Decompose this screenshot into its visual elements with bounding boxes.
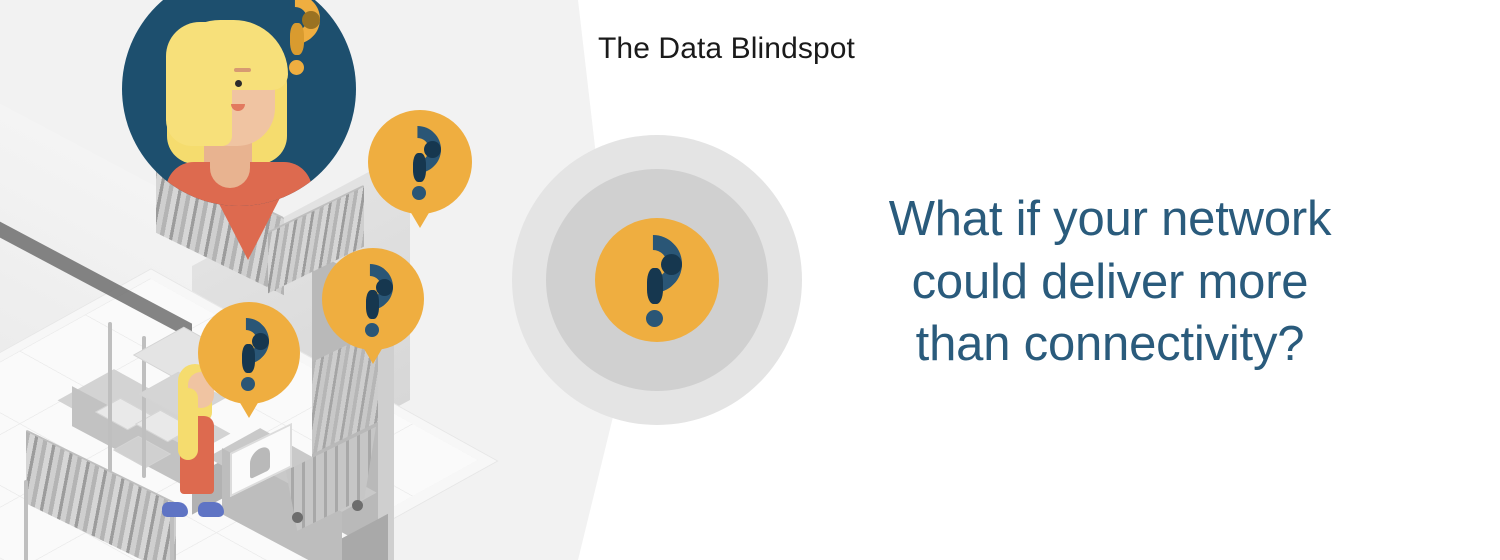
question-mark-stem <box>413 153 426 182</box>
question-mark-pin-icon <box>198 302 300 404</box>
question-mark-stem <box>290 23 304 55</box>
shopper-hair-front <box>178 388 198 460</box>
question-mark-icon <box>394 126 448 200</box>
kicker-title: The Data Blindspot <box>598 26 898 72</box>
cart-wheel-right <box>352 500 363 511</box>
question-mark-dot <box>241 377 255 391</box>
rack-post-left <box>24 480 28 560</box>
slide-canvas: The Data Blindspot What if your network … <box>0 0 1500 560</box>
question-mark-knob <box>252 333 269 350</box>
question-mark-knob <box>302 11 320 29</box>
portrait-disc <box>122 0 356 206</box>
question-mark-dot <box>365 323 379 337</box>
question-mark-icon <box>347 264 401 337</box>
headline-line-1: What if your network <box>800 188 1420 251</box>
headline-line-3: than connectivity? <box>800 313 1420 376</box>
shopper-portrait-bubble <box>122 0 356 206</box>
question-mark-dot <box>289 60 304 75</box>
portrait-hair-front <box>166 22 232 146</box>
question-mark-knob <box>424 141 441 158</box>
portrait-eyebrow <box>234 68 251 72</box>
headline: What if your network could deliver more … <box>800 188 1420 376</box>
signage-post <box>108 322 112 472</box>
question-mark-stem <box>647 268 663 304</box>
question-mark-dot <box>646 310 663 327</box>
portrait-eye <box>235 80 242 87</box>
question-mark-stem <box>366 290 379 319</box>
shopping-cart <box>280 450 376 516</box>
question-mark-icon <box>624 235 690 327</box>
question-mark-pin-icon <box>322 248 424 350</box>
question-mark-icon <box>270 0 328 76</box>
shopper-shoe-right <box>198 502 224 517</box>
question-mark-dot <box>412 186 426 200</box>
question-mark-knob <box>661 254 682 275</box>
question-mark-icon <box>223 318 277 391</box>
headline-line-2: could deliver more <box>800 251 1420 314</box>
kicker-line-2: Blindspot <box>731 32 855 65</box>
center-badge-circle <box>595 218 719 342</box>
question-mark-stem <box>242 344 255 373</box>
question-mark-badge <box>512 135 802 425</box>
kicker-line-1: The Data <box>598 32 722 65</box>
question-mark-pin-icon <box>368 110 472 214</box>
question-mark-knob <box>376 279 393 296</box>
shopper-shoe-left <box>162 502 188 517</box>
cart-wheel-left <box>292 512 303 523</box>
monitor-screen-avatar <box>250 444 270 480</box>
